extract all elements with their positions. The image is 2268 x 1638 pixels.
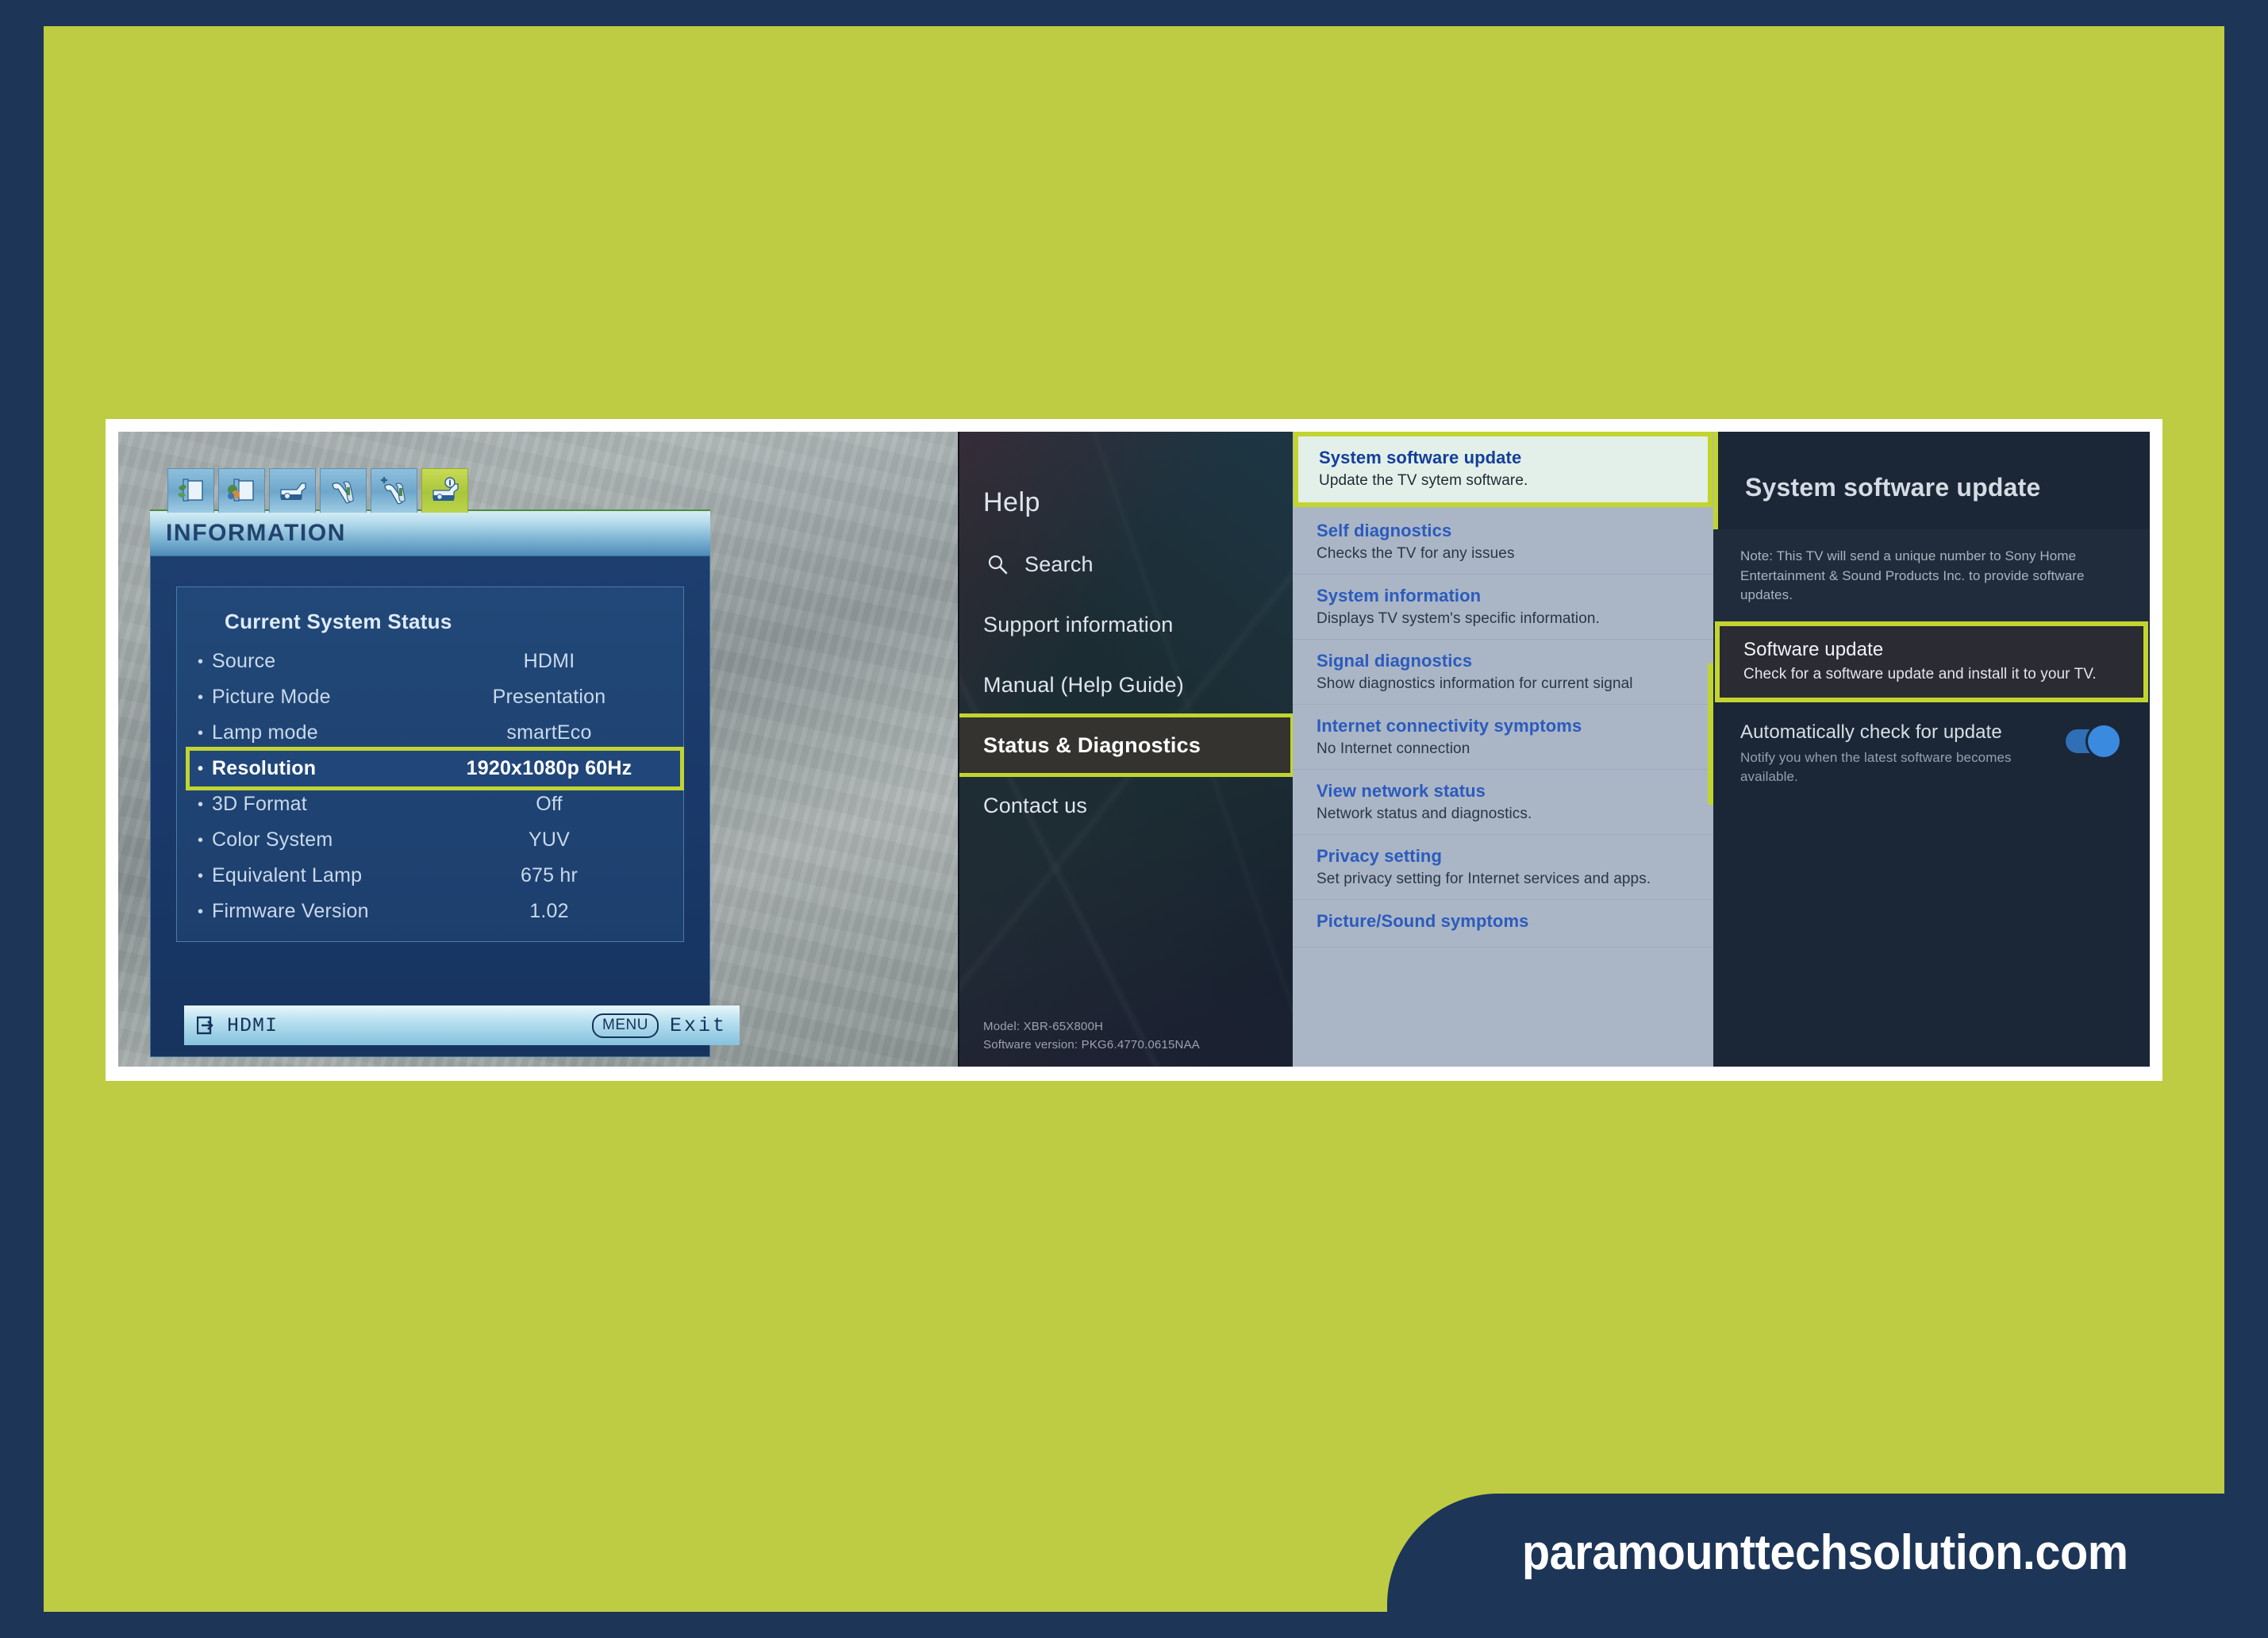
- help-menu-list: Search Support information Manual (Help …: [959, 534, 1293, 836]
- osd-row-firmware-version: • Firmware Version 1.02: [198, 894, 663, 929]
- help-item-status-and-diagnostics[interactable]: Status & Diagnostics: [958, 715, 1293, 775]
- help-menu-panel: Help Search Support information Manual (…: [958, 432, 1293, 1067]
- picture-color-icon: [226, 477, 258, 506]
- osd-label: Equivalent Lamp: [212, 864, 450, 887]
- diag-item-title: Privacy setting: [1317, 846, 1699, 867]
- diagnostics-list-panel: System software update Update the TV syt…: [1293, 432, 1713, 1067]
- help-item-manual[interactable]: Manual (Help Guide): [959, 655, 1293, 715]
- osd-value: HDMI: [450, 650, 648, 673]
- diag-item-subtitle: Show diagnostics information for current…: [1317, 675, 1699, 693]
- software-update-subtitle: Check for a software update and install …: [1743, 666, 2123, 683]
- bullet-icon: •: [198, 904, 212, 920]
- help-item-support-information[interactable]: Support information: [959, 594, 1293, 655]
- system-setup-basic-tab[interactable]: [320, 468, 367, 513]
- system-update-header: System software update: [1713, 432, 2150, 529]
- wrench-plus-icon: [379, 477, 410, 506]
- toggle-knob-icon: [2088, 725, 2120, 757]
- system-update-title: System software update: [1745, 473, 2150, 502]
- auto-check-toggle[interactable]: [2066, 729, 2118, 753]
- auto-check-title: Automatically check for update: [1740, 721, 2051, 744]
- projector-osd-panel: INFORMATION Current System Status • Sour…: [118, 432, 958, 1067]
- diag-item-subtitle: No Internet connection: [1317, 740, 1699, 758]
- system-setup-advanced-tab[interactable]: [371, 468, 417, 513]
- input-source-icon: [197, 1016, 217, 1035]
- bullet-icon: •: [198, 761, 212, 777]
- exit-label[interactable]: Exit: [670, 1014, 727, 1037]
- model-line: Model: XBR-65X800H: [983, 1018, 1200, 1036]
- osd-label: Firmware Version: [212, 900, 450, 923]
- brand-website-text: paramounttechsolution.com: [1483, 1525, 2128, 1581]
- diag-item-view-network-status[interactable]: View network status Network status and d…: [1293, 770, 1713, 835]
- diag-item-signal-diagnostics[interactable]: Signal diagnostics Show diagnostics info…: [1293, 640, 1713, 705]
- osd-title-text: INFORMATION: [166, 520, 346, 547]
- projector-icon: [277, 477, 309, 506]
- help-item-label: Manual (Help Guide): [983, 673, 1184, 698]
- osd-value: 1920x1080p 60Hz: [450, 757, 648, 780]
- bullet-icon: •: [198, 832, 212, 848]
- diag-item-title: Internet connectivity symptoms: [1317, 716, 1699, 736]
- osd-label: Source: [212, 650, 450, 673]
- osd-value: Off: [450, 793, 648, 816]
- osd-value: YUV: [450, 829, 648, 852]
- help-panel-title: Help: [983, 487, 1293, 518]
- diag-item-system-information[interactable]: System information Displays TV system's …: [1293, 575, 1713, 640]
- osd-row-source: • Source HDMI: [198, 644, 663, 679]
- diag-item-subtitle: Set privacy setting for Internet service…: [1317, 871, 1699, 888]
- diag-item-title: View network status: [1317, 781, 1699, 802]
- help-item-label: Contact us: [983, 794, 1087, 818]
- screenshot-frame: INFORMATION Current System Status • Sour…: [106, 419, 2162, 1081]
- diagnostics-scrollbar[interactable]: [1708, 663, 1713, 805]
- software-version-line: Software version: PKG6.4770.0615NAA: [983, 1036, 1200, 1055]
- diag-item-subtitle: Checks the TV for any issues: [1317, 545, 1699, 563]
- osd-row-3d-format: • 3D Format Off: [198, 786, 663, 822]
- information-tab[interactable]: [421, 468, 468, 513]
- diag-item-title: System software update: [1319, 448, 1697, 468]
- diag-item-subtitle: Displays TV system's specific informatio…: [1317, 610, 1699, 628]
- diag-item-title: Signal diagnostics: [1317, 651, 1699, 671]
- display-screen-icon: [175, 477, 207, 506]
- osd-row-resolution-highlighted: • Resolution 1920x1080p 60Hz: [190, 751, 680, 786]
- osd-label: Color System: [212, 829, 450, 852]
- diag-item-internet-connectivity-symptoms[interactable]: Internet connectivity symptoms No Intern…: [1293, 705, 1713, 770]
- auto-check-subtitle: Notify you when the latest software beco…: [1740, 748, 2034, 786]
- help-item-label: Search: [1024, 552, 1094, 577]
- bullet-icon: •: [198, 797, 212, 813]
- osd-row-equivalent-lamp: • Equivalent Lamp 675 hr: [198, 858, 663, 894]
- diag-item-subtitle: Update the TV sytem software.: [1319, 472, 1697, 490]
- help-item-search[interactable]: Search: [959, 534, 1293, 594]
- osd-source-text: HDMI: [227, 1014, 278, 1037]
- diag-item-picture-sound-symptoms[interactable]: Picture/Sound symptoms: [1293, 900, 1713, 948]
- osd-title-bar: INFORMATION: [150, 509, 710, 556]
- screenshot-inner: INFORMATION Current System Status • Sour…: [118, 432, 2150, 1067]
- bullet-icon: •: [198, 690, 212, 706]
- auto-check-text-column: Automatically check for update Notify yo…: [1740, 721, 2051, 786]
- osd-value: smartEco: [450, 721, 648, 744]
- bullet-icon: •: [198, 654, 212, 670]
- software-update-title: Software update: [1743, 639, 2123, 661]
- osd-value: 1.02: [450, 900, 648, 923]
- osd-label: Resolution: [212, 757, 450, 780]
- diag-item-title: System information: [1317, 586, 1699, 606]
- osd-value: Presentation: [450, 686, 648, 709]
- osd-footer-bar: HDMI MENU Exit: [184, 1005, 740, 1045]
- osd-label: Picture Mode: [212, 686, 450, 709]
- bullet-icon: •: [198, 725, 212, 741]
- auto-check-update-row[interactable]: Automatically check for update Notify yo…: [1713, 701, 2150, 804]
- osd-row-lamp-mode: • Lamp mode smartEco: [198, 715, 663, 751]
- help-item-contact-us[interactable]: Contact us: [959, 775, 1293, 836]
- osd-row-picture-mode: • Picture Mode Presentation: [198, 679, 663, 715]
- info-projector-icon: [429, 477, 461, 506]
- osd-section-heading: Current System Status: [225, 609, 663, 634]
- osd-label: Lamp mode: [212, 721, 450, 744]
- diag-item-privacy-setting[interactable]: Privacy setting Set privacy setting for …: [1293, 835, 1713, 900]
- system-update-note: Note: This TV will send a unique number …: [1713, 529, 2150, 623]
- help-item-label: Support information: [983, 613, 1173, 637]
- help-device-meta: Model: XBR-65X800H Software version: PKG…: [983, 1018, 1200, 1054]
- osd-value: 675 hr: [450, 864, 648, 887]
- osd-row-color-system: • Color System YUV: [198, 822, 663, 858]
- osd-status-card: Current System Status • Source HDMI • Pi…: [176, 586, 684, 942]
- diag-item-subtitle: Network status and diagnostics.: [1317, 806, 1699, 823]
- bullet-icon: •: [198, 868, 212, 884]
- menu-key-badge[interactable]: MENU: [592, 1013, 659, 1038]
- help-item-label: Status & Diagnostics: [983, 733, 1201, 758]
- osd-label: 3D Format: [212, 793, 450, 816]
- diag-item-self-diagnostics[interactable]: Self diagnostics Checks the TV for any i…: [1293, 509, 1713, 575]
- osd-body: Current System Status • Source HDMI • Pi…: [150, 556, 710, 1057]
- osd-source-indicator: HDMI: [197, 1014, 278, 1037]
- wrench-tools-icon: [328, 477, 359, 506]
- search-icon: [986, 553, 1009, 575]
- picture-tab[interactable]: [218, 468, 265, 513]
- osd-tab-strip: [167, 468, 468, 513]
- diag-item-system-software-update[interactable]: System software update Update the TV syt…: [1295, 433, 1711, 506]
- display-tab[interactable]: [167, 468, 214, 513]
- setup-tab[interactable]: [269, 468, 316, 513]
- diag-item-title: Self diagnostics: [1317, 521, 1699, 541]
- system-software-update-panel: System software update Note: This TV wil…: [1713, 432, 2150, 1067]
- diag-item-title: Picture/Sound symptoms: [1317, 911, 1699, 932]
- software-update-row[interactable]: Software update Check for a software upd…: [1716, 623, 2147, 701]
- brand-footer-bar: paramounttechsolution.com: [1387, 1494, 2224, 1612]
- page-root: INFORMATION Current System Status • Sour…: [0, 0, 2268, 1638]
